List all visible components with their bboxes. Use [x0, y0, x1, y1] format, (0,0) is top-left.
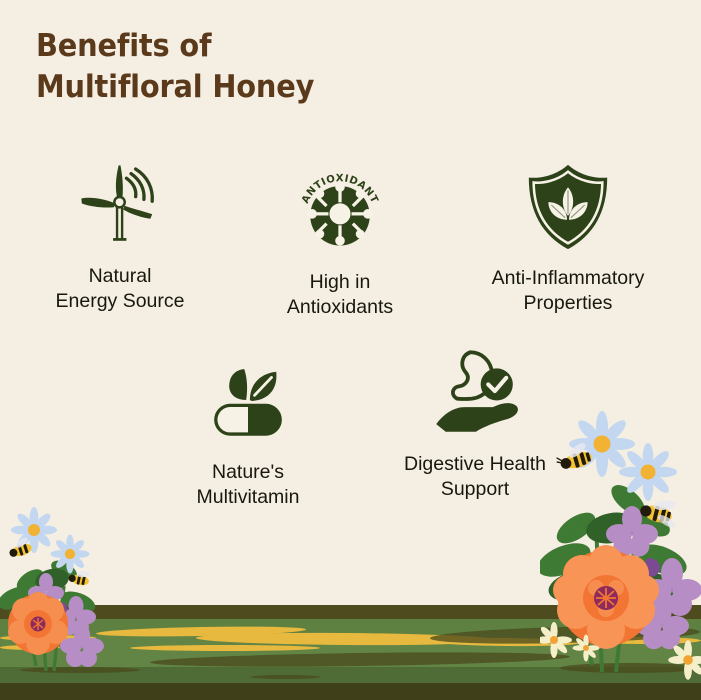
benefit-label-line-1: Digestive Health: [404, 452, 546, 477]
antioxidant-molecule-icon: ANTIOXIDANT: [292, 158, 388, 262]
benefit-label-line-1: High in: [287, 270, 393, 295]
flower-bouquet-right: [540, 410, 701, 682]
benefit-label-line-2: Multivitamin: [197, 485, 300, 510]
title-line-2: Multifloral Honey: [36, 67, 427, 108]
benefit-label: Natural Energy Source: [56, 264, 185, 314]
benefit-label: Nature's Multivitamin: [197, 460, 300, 510]
page-title: Benefits of Multifloral Honey: [36, 26, 427, 108]
field-streak: [130, 645, 320, 651]
benefit-label-line-2: Properties: [492, 291, 645, 316]
infographic-canvas: Benefits of Multifloral Honey: [0, 0, 701, 700]
benefit-label-line-2: Energy Source: [56, 289, 185, 314]
shield-leaves-icon: [519, 154, 617, 258]
capsule-leaf-icon: [201, 348, 295, 452]
benefit-label-line-1: Nature's: [197, 460, 300, 485]
benefit-item-natures-multivitamin: Nature's Multivitamin: [150, 348, 346, 510]
benefit-label: Anti-Inflammatory Properties: [492, 266, 645, 316]
benefit-label: Digestive Health Support: [404, 452, 546, 502]
hand-stomach-check-icon: [423, 340, 527, 444]
benefit-item-high-in-antioxidants: ANTIOXIDANT High in Antioxidants: [250, 158, 430, 320]
benefit-label: High in Antioxidants: [287, 270, 393, 320]
benefit-label-line-1: Anti-Inflammatory: [492, 266, 645, 291]
wind-turbine-icon: [74, 152, 166, 256]
flower-bouquet-left: [0, 506, 114, 666]
benefit-label-line-2: Support: [404, 477, 546, 502]
benefit-label-line-2: Antioxidants: [287, 295, 393, 320]
title-line-1: Benefits of: [36, 26, 427, 67]
benefit-item-anti-inflammatory-properties: Anti-Inflammatory Properties: [452, 154, 684, 316]
benefit-item-natural-energy-source: Natural Energy Source: [22, 152, 218, 314]
field-shadow: [250, 675, 320, 679]
ground-layer-dark-bottom: [0, 683, 701, 700]
benefit-label-line-1: Natural: [56, 264, 185, 289]
